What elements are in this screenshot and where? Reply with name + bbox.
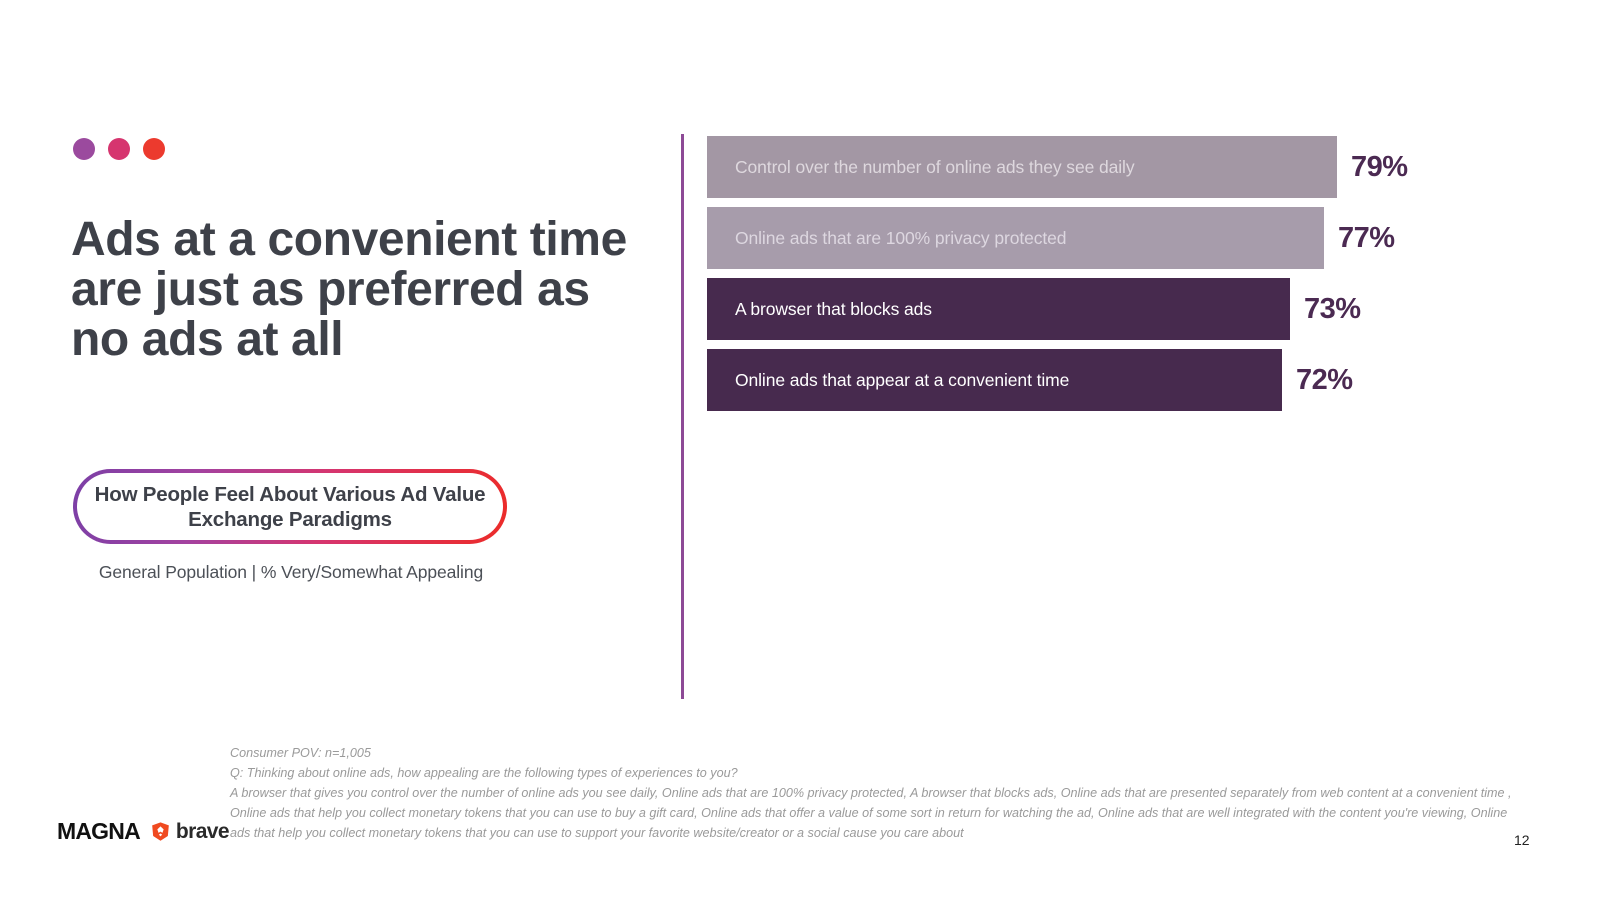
chart-title-pill: How People Feel About Various Ad Value E… (73, 469, 507, 544)
table-row: A browser that blocks ads 73% (707, 278, 1507, 340)
bar-label-2: Online ads that are 100% privacy protect… (707, 228, 1066, 249)
logo-group: MAGNA brave (57, 818, 229, 845)
vertical-divider (681, 134, 684, 699)
bar-3: A browser that blocks ads (707, 278, 1290, 340)
table-row: Online ads that are 100% privacy protect… (707, 207, 1507, 269)
chart-title-text: How People Feel About Various Ad Value E… (77, 482, 503, 532)
footnotes: Consumer POV: n=1,005 Q: Thinking about … (230, 744, 1520, 843)
table-row: Control over the number of online ads th… (707, 136, 1507, 198)
chart-subcaption: General Population | % Very/Somewhat App… (73, 562, 509, 583)
dot-red-icon (143, 138, 165, 160)
bar-label-4: Online ads that appear at a convenient t… (707, 370, 1069, 391)
bar-chart: Control over the number of online ads th… (707, 136, 1507, 426)
bar-label-3: A browser that blocks ads (707, 299, 932, 320)
brave-logo: brave (150, 820, 229, 844)
decorative-dots (73, 138, 165, 160)
bar-4: Online ads that appear at a convenient t… (707, 349, 1282, 411)
footnote-items: A browser that gives you control over th… (230, 784, 1520, 844)
magna-logo: MAGNA (57, 818, 140, 845)
pill-gradient-border: How People Feel About Various Ad Value E… (73, 469, 507, 544)
footnote-sample-size: Consumer POV: n=1,005 (230, 744, 1520, 764)
bar-value-4: 72% (1296, 364, 1353, 397)
brave-wordmark: brave (176, 820, 229, 844)
table-row: Online ads that appear at a convenient t… (707, 349, 1507, 411)
page-number: 12 (1514, 832, 1530, 848)
page-title: Ads at a convenient time are just as pre… (71, 215, 631, 365)
bar-value-2: 77% (1338, 222, 1395, 255)
brave-lion-icon (150, 821, 171, 842)
pill-inner: How People Feel About Various Ad Value E… (77, 473, 503, 540)
bar-value-1: 79% (1351, 151, 1408, 184)
dot-magenta-icon (108, 138, 130, 160)
bar-value-3: 73% (1304, 293, 1361, 326)
dot-purple-icon (73, 138, 95, 160)
bar-label-1: Control over the number of online ads th… (707, 157, 1134, 178)
bar-2: Online ads that are 100% privacy protect… (707, 207, 1324, 269)
bar-1: Control over the number of online ads th… (707, 136, 1337, 198)
footnote-question: Q: Thinking about online ads, how appeal… (230, 764, 1520, 784)
